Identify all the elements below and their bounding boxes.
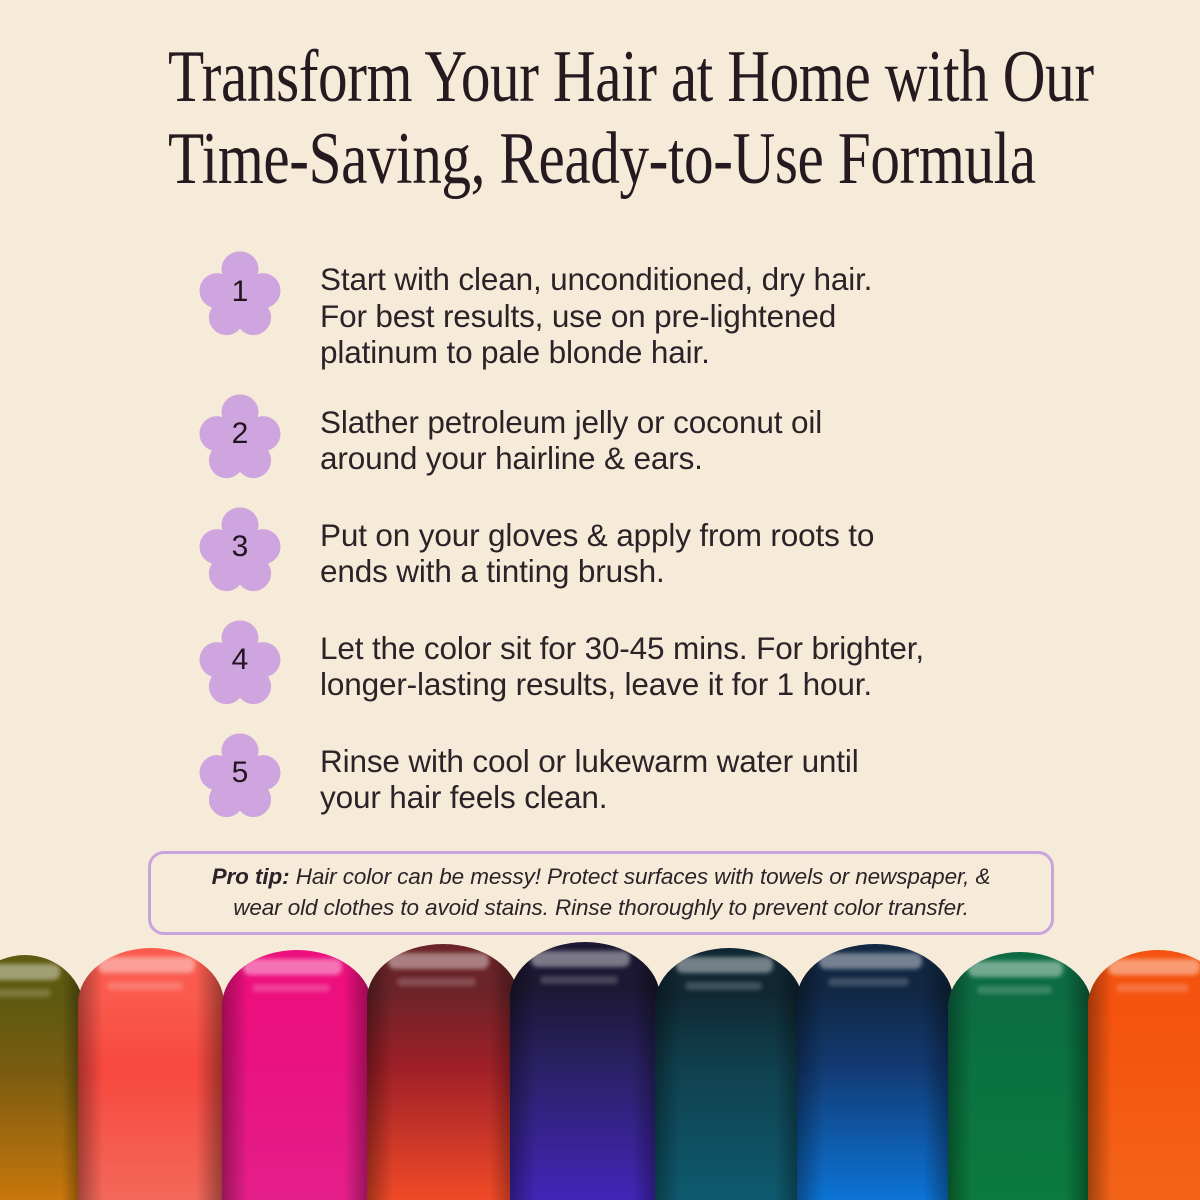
gel-highlight-secondary (1116, 984, 1189, 992)
list-item: 1 Start with clean, unconditioned, dry h… (196, 248, 1056, 371)
page-title-line-1: Transform Your Hair at Home with Our (168, 36, 1032, 118)
pro-tip-callout: Pro tip: Hair color can be messy! Protec… (148, 851, 1054, 935)
step-number: 5 (196, 730, 284, 818)
gel-swatch-royal-blue (797, 944, 953, 1200)
gel-highlight-secondary (828, 978, 909, 986)
gel-highlight (819, 953, 922, 969)
step-number: 1 (196, 248, 284, 336)
step-text-line: around your hairline & ears. (320, 440, 1056, 477)
step-text: Put on your gloves & apply from roots to… (320, 504, 1056, 590)
pro-tip-label: Pro tip: (212, 864, 290, 889)
gel-swatch-emerald-green (948, 952, 1092, 1200)
step-number: 2 (196, 391, 284, 479)
gel-highlight (388, 953, 488, 969)
step-badge-flower: 4 (196, 617, 284, 705)
list-item: 3 Put on your gloves & apply from roots … (196, 504, 1056, 592)
step-text-line: Rinse with cool or lukewarm water until (320, 743, 1056, 780)
gel-highlight (676, 957, 774, 973)
gel-highlight (531, 951, 630, 967)
gel-highlight-secondary (252, 984, 330, 992)
pro-tip-line-1: Pro tip: Hair color can be messy! Protec… (212, 861, 991, 892)
gel-edge-left (78, 948, 103, 1200)
gel-highlight (0, 964, 60, 980)
gel-swatch-coral-red (78, 948, 224, 1200)
gel-highlight-secondary (0, 989, 51, 997)
step-badge-flower: 3 (196, 504, 284, 592)
gel-swatch-orange (1088, 950, 1200, 1200)
step-text-line: ends with a tinting brush. (320, 553, 1056, 590)
step-text-line: platinum to pale blonde hair. (320, 334, 1056, 371)
step-text-line: Put on your gloves & apply from roots to (320, 517, 1056, 554)
gel-edge-right (196, 948, 224, 1200)
step-text: Start with clean, unconditioned, dry hai… (320, 248, 1056, 371)
gel-swatch-hot-pink (222, 950, 372, 1200)
step-badge-flower: 5 (196, 730, 284, 818)
page-title: Transform Your Hair at Home with Our Tim… (168, 36, 1032, 200)
gel-edge-left (367, 944, 393, 1200)
gel-highlight-secondary (107, 982, 183, 990)
gel-highlight (98, 957, 194, 973)
gel-edge-left (655, 948, 680, 1200)
step-text-line: longer-lasting results, leave it for 1 h… (320, 666, 1056, 703)
step-text-line: Let the color sit for 30-45 mins. For br… (320, 630, 1056, 667)
gel-swatch-olive-amber (0, 955, 84, 1200)
steps-list: 1 Start with clean, unconditioned, dry h… (196, 248, 1056, 818)
pro-tip-line-2: wear old clothes to avoid stains. Rinse … (233, 892, 969, 923)
gel-highlight-secondary (540, 976, 618, 984)
gel-highlight-secondary (977, 986, 1052, 994)
page-title-line-2: Time-Saving, Ready-to-Use Formula (168, 118, 1032, 200)
gel-highlight (1108, 959, 1200, 975)
gel-highlight-secondary (685, 982, 762, 990)
list-item: 2 Slather petroleum jelly or coconut oil… (196, 391, 1056, 479)
list-item: 4 Let the color sit for 30-45 mins. For … (196, 617, 1056, 705)
gel-highlight-secondary (397, 978, 476, 986)
gel-highlight (243, 959, 342, 975)
list-item: 5 Rinse with cool or lukewarm water unti… (196, 730, 1056, 818)
gel-swatch-indigo-violet (510, 942, 660, 1200)
gel-edge-left (1088, 950, 1112, 1200)
step-text-line: Slather petroleum jelly or coconut oil (320, 404, 1056, 441)
step-text: Slather petroleum jelly or coconut oil a… (320, 391, 1056, 477)
step-text: Rinse with cool or lukewarm water until … (320, 730, 1056, 816)
step-text-line: For best results, use on pre-lightened (320, 298, 1056, 335)
pro-tip-text: Hair color can be messy! Protect surface… (296, 864, 991, 889)
gel-edge-left (797, 944, 824, 1200)
step-badge-flower: 2 (196, 391, 284, 479)
step-number: 4 (196, 617, 284, 705)
step-badge-flower: 1 (196, 248, 284, 336)
step-number: 3 (196, 504, 284, 592)
gel-swatch-strip (0, 940, 1200, 1200)
gel-edge-left (510, 942, 536, 1200)
gel-edge-left (222, 950, 248, 1200)
step-text-line: your hair feels clean. (320, 779, 1056, 816)
gel-edge-left (948, 952, 972, 1200)
gel-swatch-crimson-red (367, 944, 519, 1200)
gel-highlight (968, 961, 1063, 977)
gel-swatch-teal (655, 948, 803, 1200)
step-text-line: Start with clean, unconditioned, dry hai… (320, 261, 1056, 298)
step-text: Let the color sit for 30-45 mins. For br… (320, 617, 1056, 703)
